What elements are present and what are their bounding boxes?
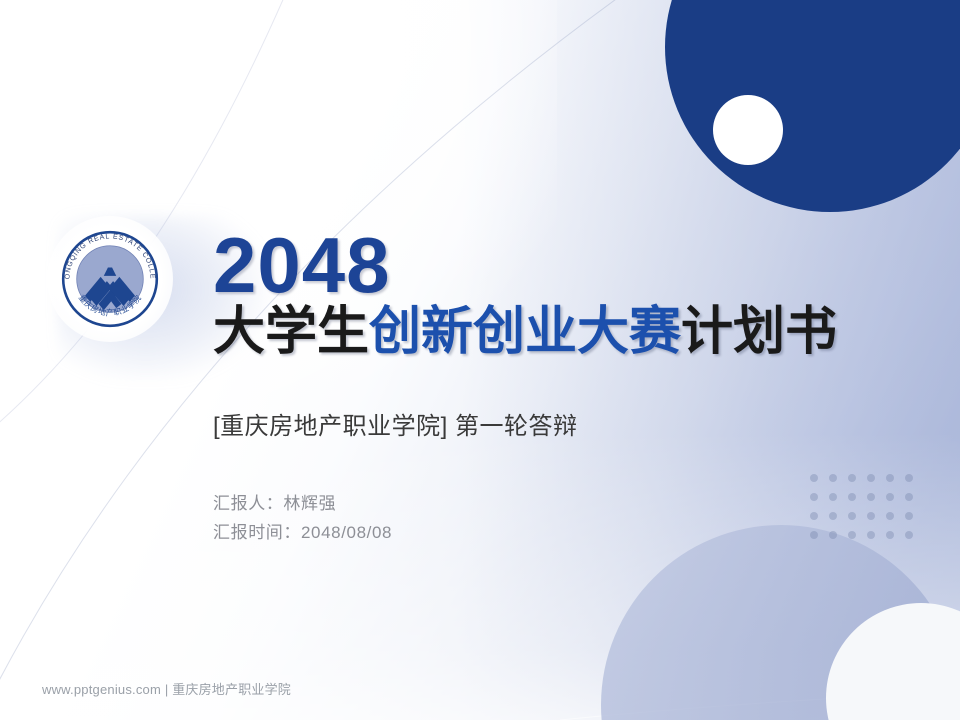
dot xyxy=(848,474,856,482)
dot xyxy=(886,512,894,520)
college-logo: CHONGQING REAL ESTATE COLLEGE 重庆房地产职业学院 xyxy=(47,216,173,342)
presenter-meta-block: 汇报人：林辉强 汇报时间：2048/08/08 xyxy=(213,489,392,547)
dot xyxy=(867,512,875,520)
dot xyxy=(905,474,913,482)
decor-dot-grid xyxy=(810,474,924,550)
dot xyxy=(905,512,913,520)
dot xyxy=(905,493,913,501)
dot xyxy=(829,474,837,482)
dot xyxy=(905,531,913,539)
dot xyxy=(886,531,894,539)
dot xyxy=(810,474,818,482)
slide-year: 2048 xyxy=(213,228,913,302)
dot xyxy=(886,493,894,501)
dot xyxy=(848,493,856,501)
title-block: 2048 大学生创新创业大赛计划书 xyxy=(213,228,913,360)
dot xyxy=(829,512,837,520)
dot xyxy=(867,531,875,539)
dot xyxy=(829,493,837,501)
dot xyxy=(810,531,818,539)
slide-footer: www.pptgenius.com | 重庆房地产职业学院 xyxy=(42,679,291,698)
dot xyxy=(848,531,856,539)
dot xyxy=(848,512,856,520)
presentation-date: 汇报时间：2048/08/08 xyxy=(213,518,392,547)
college-emblem-icon: CHONGQING REAL ESTATE COLLEGE 重庆房地产职业学院 xyxy=(58,227,162,331)
headline-part-1: 大学生 xyxy=(213,303,369,361)
presentation-slide: CHONGQING REAL ESTATE COLLEGE 重庆房地产职业学院 … xyxy=(0,0,960,720)
slide-subtitle: [重庆房地产职业学院] 第一轮答辩 xyxy=(213,406,578,441)
dot xyxy=(886,474,894,482)
decor-circle-white-small xyxy=(713,95,783,165)
headline-part-3: 计划书 xyxy=(681,303,837,361)
headline-part-2: 创新创业大赛 xyxy=(369,303,681,361)
dot xyxy=(829,531,837,539)
dot xyxy=(867,493,875,501)
dot xyxy=(810,512,818,520)
presenter-name: 汇报人：林辉强 xyxy=(213,489,392,518)
dot xyxy=(867,474,875,482)
dot xyxy=(810,493,818,501)
slide-headline: 大学生创新创业大赛计划书 xyxy=(213,304,913,360)
